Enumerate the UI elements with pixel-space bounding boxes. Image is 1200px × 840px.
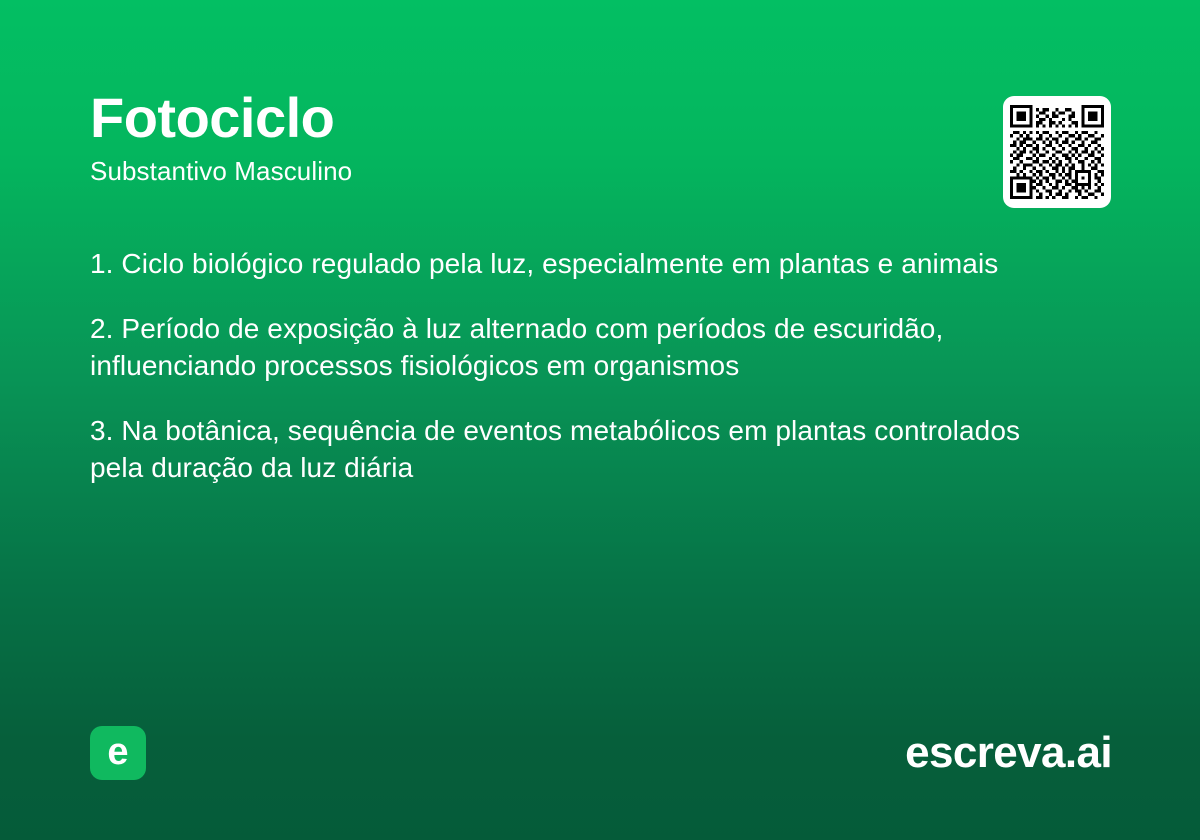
- brand-name: escreva.ai: [905, 731, 1112, 775]
- definition-item: 2. Período de exposição à luz alternado …: [90, 311, 1075, 385]
- brand-logo-letter: e: [107, 733, 128, 771]
- entry-header: Fotociclo Substantivo Masculino: [90, 88, 1110, 188]
- definition-item: 1. Ciclo biológico regulado pela luz, es…: [90, 246, 1085, 283]
- definition-list: 1. Ciclo biológico regulado pela luz, es…: [90, 246, 1090, 487]
- qr-code-icon[interactable]: [1003, 96, 1111, 208]
- brand-logo[interactable]: e: [90, 726, 146, 780]
- footer: e escreva.ai: [90, 726, 1112, 780]
- dictionary-card: Fotociclo Substantivo Masculino: [0, 0, 1200, 840]
- definition-item: 3. Na botânica, sequência de eventos met…: [90, 413, 1065, 487]
- word-class-label: Substantivo Masculino: [90, 156, 1110, 187]
- page-title: Fotociclo: [90, 88, 1110, 148]
